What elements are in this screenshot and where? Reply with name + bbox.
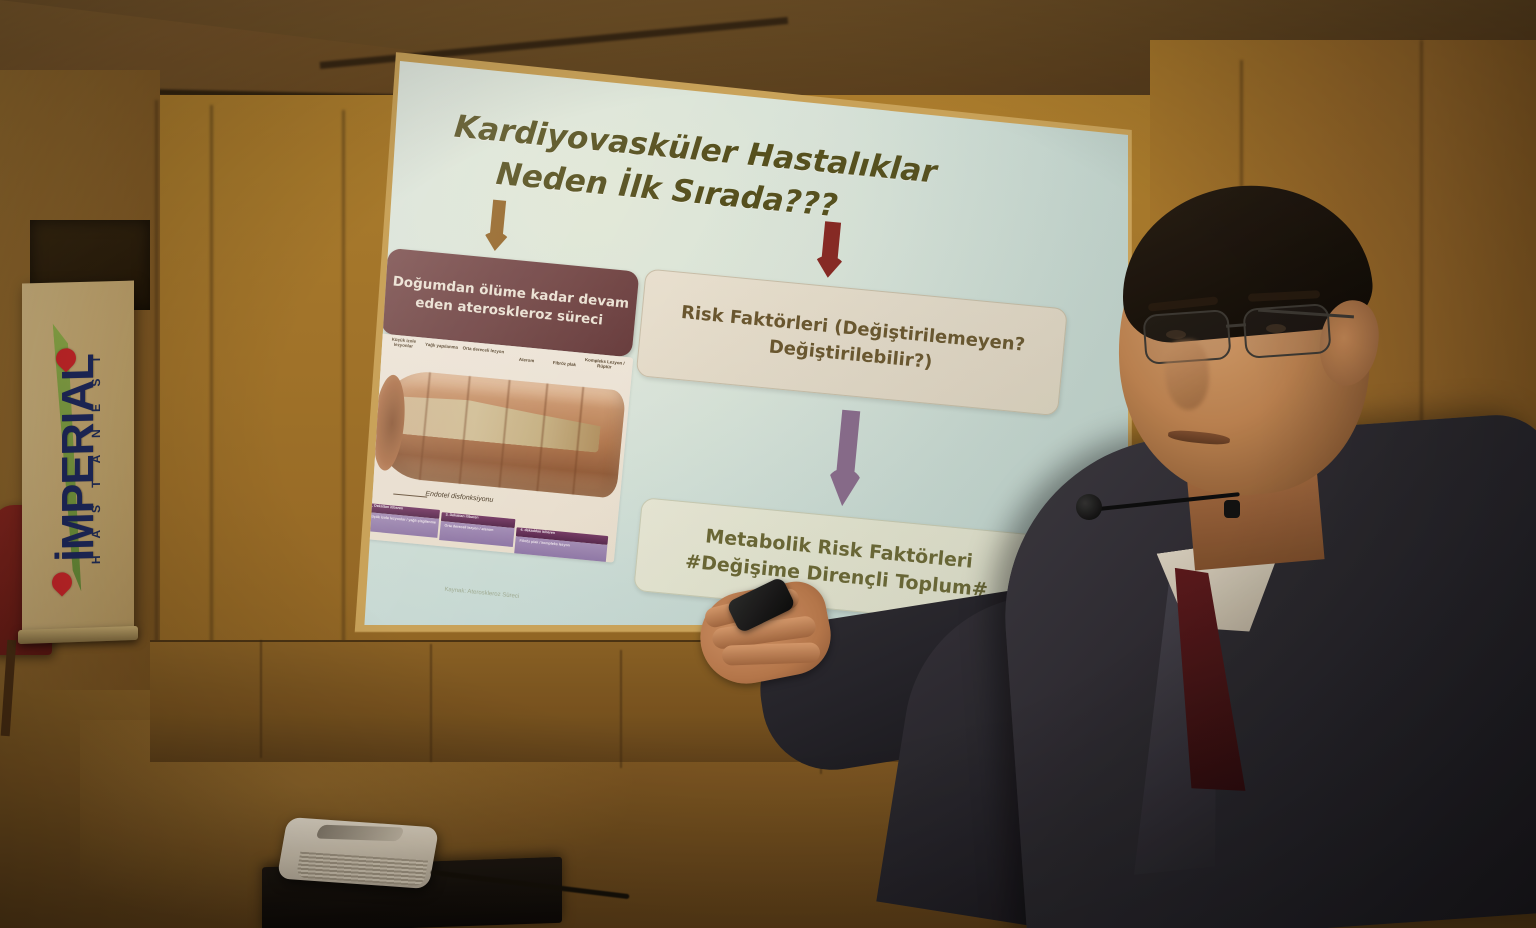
artery-stage-label: Kompleks Lezyon / Rüptür [582,357,627,371]
wall-right [1150,40,1536,800]
arrow-to-bottom-box [828,409,865,509]
wall-seam [1240,60,1243,760]
wainscot-seam [1020,662,1022,780]
artery-stage-label: Yağlı yapılanma [419,341,463,350]
artery-stage-label: Orta dereceli lezyon [461,345,505,354]
artery-caption: Endotel disfonksiyonu [425,491,575,512]
wainscot [150,640,1150,762]
slide-box-risk-factors: Risk Faktörleri (Değiştirilemeyen? Değiş… [636,268,1068,416]
wall-seam [1420,40,1423,780]
wall-seam [210,105,213,725]
wall-seam [342,110,345,710]
artery-stage-label: Fibröz plak [542,359,586,368]
arrow-to-left-box [481,199,514,253]
wainscot-seam [820,656,822,774]
arrow-to-right-box [814,221,847,281]
slide-box-metabolic-risk: Metabolik Risk Faktörleri #Değişime Dire… [633,497,1042,625]
artery-progression-figure: Küçük izole lezyonlar Yağlı yapılanma Or… [361,333,633,562]
photo-scene: İMPERIAL H A S T A N E S İ Kardiyovaskül… [0,0,1536,928]
wainscot-seam [430,644,432,762]
heart-icon [48,568,76,596]
projection-screen: Kardiyovasküler Hastalıklar Neden İlk Sı… [356,55,1128,625]
roll-up-banner: İMPERIAL H A S T A N E S İ [22,281,134,636]
wainscot-seam [620,650,622,768]
projector-lens [315,825,405,842]
wainscot-seam [260,640,262,758]
slide-content: Kardiyovasküler Hastalıklar Neden İlk Sı… [356,55,1128,625]
banner-subtitle: H A S T A N E S İ [89,351,103,565]
artery-caption-leader [393,493,427,497]
slide-title: Kardiyovasküler Hastalıklar Neden İlk Sı… [448,106,1014,244]
